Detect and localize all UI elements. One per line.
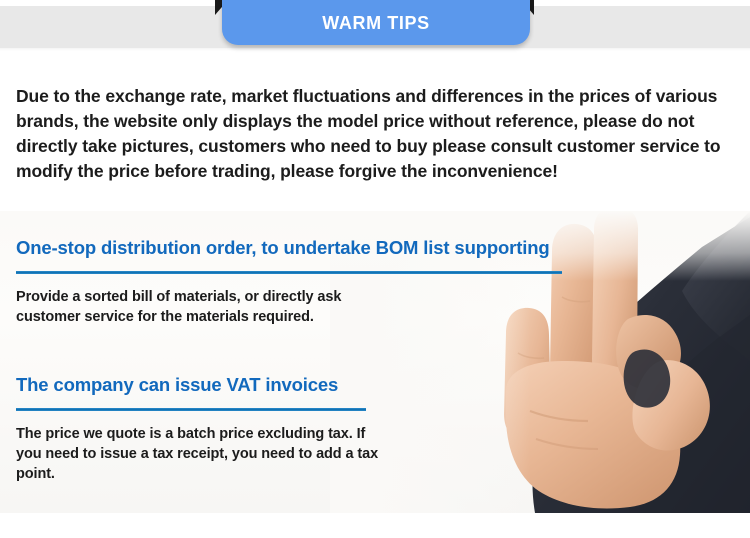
service-divider-bom bbox=[16, 271, 562, 274]
warm-tips-banner: WARM TIPS bbox=[0, 0, 750, 58]
service-body-bom: Provide a sorted bill of materials, or d… bbox=[16, 287, 376, 327]
price-notice-text: Due to the exchange rate, market fluctua… bbox=[16, 84, 722, 184]
service-block-vat: The company can issue VAT invoices The p… bbox=[16, 374, 388, 484]
service-block-bom: One-stop distribution order, to undertak… bbox=[16, 237, 562, 327]
service-heading-vat: The company can issue VAT invoices bbox=[16, 374, 388, 396]
service-heading-bom: One-stop distribution order, to undertak… bbox=[16, 237, 562, 259]
banner-strip-shadow bbox=[0, 48, 750, 51]
service-body-vat: The price we quote is a batch price excl… bbox=[16, 424, 388, 484]
warm-tips-tab: WARM TIPS bbox=[222, 0, 530, 45]
page-root: WARM TIPS Due to the exchange rate, mark… bbox=[0, 0, 750, 538]
warm-tips-title: WARM TIPS bbox=[222, 13, 530, 34]
service-divider-vat bbox=[16, 408, 366, 411]
services-panel: One-stop distribution order, to undertak… bbox=[0, 211, 750, 513]
